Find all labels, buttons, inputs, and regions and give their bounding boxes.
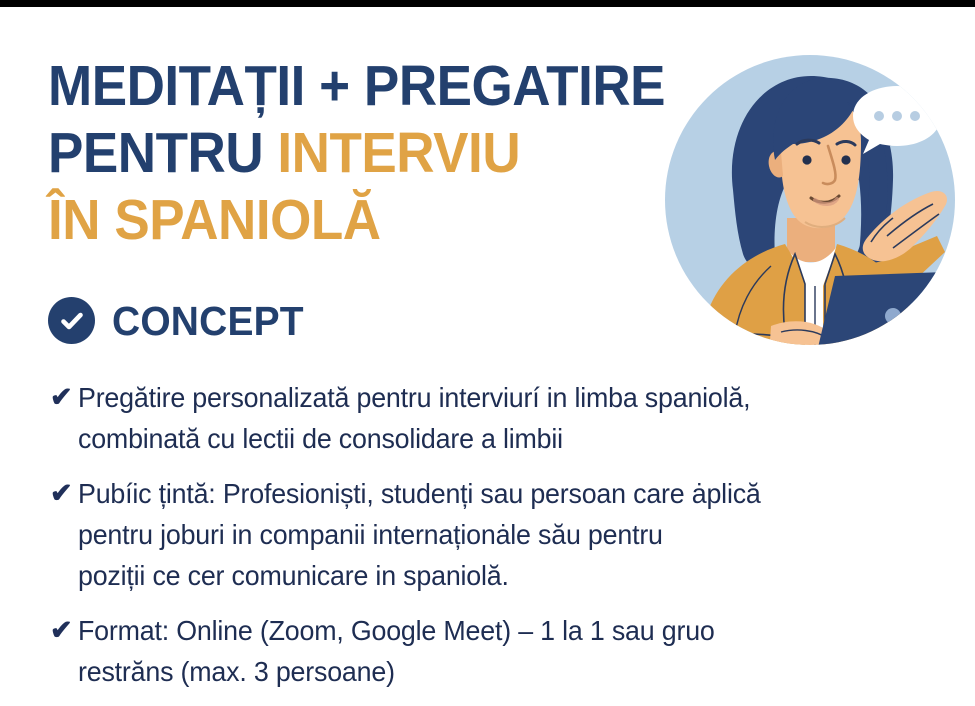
check-mark-icon: ✔ <box>50 610 78 651</box>
speech-bubble-dot-3 <box>910 111 920 121</box>
typing-hand-shape <box>769 321 829 356</box>
bullet-text: Pubíic țintă: Profesioniști, studenți sa… <box>78 473 918 596</box>
title-line-2-navy: PENTRU <box>48 121 277 185</box>
poster-title: MEDITAȚII + PREGATIRE PENTRU INTERVIU ÎN… <box>48 53 648 254</box>
bullet-line: Pregătire personalizată pentru interviur… <box>78 382 750 413</box>
speech-bubble-dot-1 <box>874 111 884 121</box>
laptop-logo-icon <box>885 308 901 324</box>
woman-at-laptop-illustration <box>645 40 975 370</box>
bullet-line: poziții ce cer comunicare in spaniolă. <box>78 560 509 591</box>
bullet-line: pentru joburi in companii internaționȧle… <box>78 519 663 550</box>
title-line-1: MEDITAȚII + PREGATIRE <box>48 53 606 120</box>
title-line-3: ÎN SPANIOLĂ <box>48 187 606 254</box>
concept-bullet-list: ✔ Pregătire personalizată pentru intervi… <box>50 377 940 706</box>
eye-right <box>841 155 850 164</box>
check-mark-icon: ✔ <box>50 473 78 514</box>
bullet-line: combinată cu lectii de consolidare a lim… <box>78 423 563 454</box>
bullet-line: Pubíic țintă: Profesioniști, studenți sa… <box>78 478 761 509</box>
list-item: ✔ Format: Online (Zoom, Google Meet) – 1… <box>50 610 940 692</box>
speech-bubble-dot-2 <box>892 111 902 121</box>
check-mark-icon: ✔ <box>50 377 78 418</box>
bullet-line: restrăns (max. 3 persoane) <box>78 656 395 687</box>
concept-section-heading: CONCEPT <box>48 297 314 344</box>
laptop-base-shape <box>755 352 975 370</box>
top-black-bar <box>0 0 975 7</box>
list-item: ✔ Pubíic țintă: Profesioniști, studenți … <box>50 473 940 596</box>
check-circle-icon <box>48 297 95 344</box>
list-item: ✔ Pregătire personalizată pentru intervi… <box>50 377 940 459</box>
poster-canvas: MEDITAȚII + PREGATIRE PENTRU INTERVIU ÎN… <box>0 7 975 700</box>
eye-left <box>802 155 811 164</box>
bullet-line: Format: Online (Zoom, Google Meet) – 1 l… <box>78 615 715 646</box>
section-heading-label: CONCEPT <box>112 299 304 343</box>
title-line-2-gold: INTERVIU <box>277 121 520 185</box>
bullet-text: Format: Online (Zoom, Google Meet) – 1 l… <box>78 610 918 692</box>
bullet-text: Pregătire personalizată pentru interviur… <box>78 377 918 459</box>
title-line-2: PENTRU INTERVIU <box>48 120 606 187</box>
